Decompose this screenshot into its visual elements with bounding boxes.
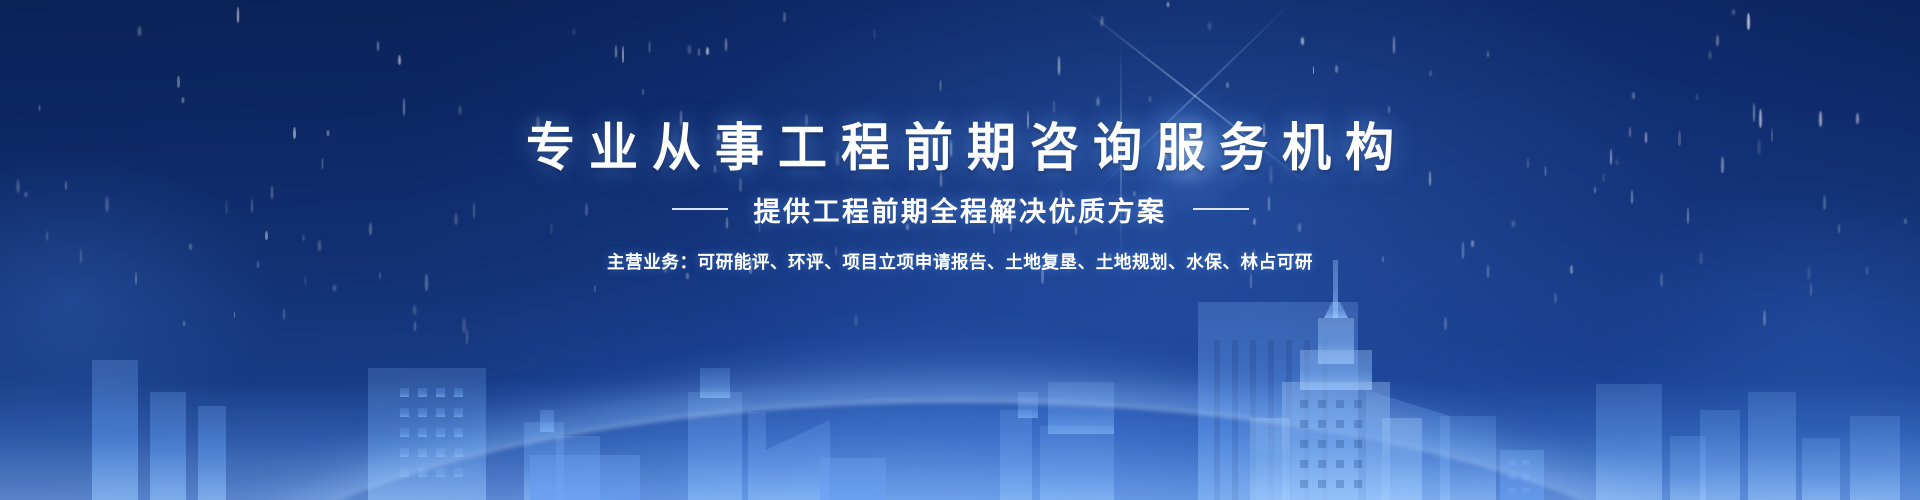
particle	[1660, 273, 1663, 287]
business-scope-text: 主营业务：可研能评、环评、项目立项申请报告、土地复垦、土地规划、水保、林占可研	[0, 249, 1920, 274]
particle	[414, 321, 416, 330]
particle	[594, 285, 596, 293]
particle	[234, 312, 236, 318]
particle	[1250, 273, 1253, 289]
page-title: 专业从事工程前期咨询服务机构	[0, 0, 1920, 180]
particle	[466, 328, 468, 345]
particle	[1554, 293, 1557, 303]
horizon-arc-line	[180, 400, 1740, 500]
particle	[1444, 317, 1447, 330]
dash-left-icon	[672, 208, 728, 210]
banner-content: 专业从事工程前期咨询服务机构 提供工程前期全程解决优质方案 主营业务：可研能评、…	[0, 0, 1920, 274]
particle	[333, 285, 336, 291]
hero-banner: 专业从事工程前期咨询服务机构 提供工程前期全程解决优质方案 主营业务：可研能评、…	[0, 0, 1920, 500]
particle	[283, 308, 286, 320]
particle	[183, 321, 186, 326]
particle	[463, 318, 466, 333]
particle	[1763, 310, 1766, 326]
particle	[1810, 283, 1812, 296]
particle	[413, 305, 416, 315]
particle	[855, 315, 857, 326]
particle	[305, 276, 307, 285]
subtitle-row: 提供工程前期全程解决优质方案	[0, 190, 1920, 229]
dash-right-icon	[1193, 208, 1249, 210]
particle	[686, 273, 689, 280]
particle	[425, 274, 428, 291]
page-subtitle: 提供工程前期全程解决优质方案	[754, 190, 1167, 229]
